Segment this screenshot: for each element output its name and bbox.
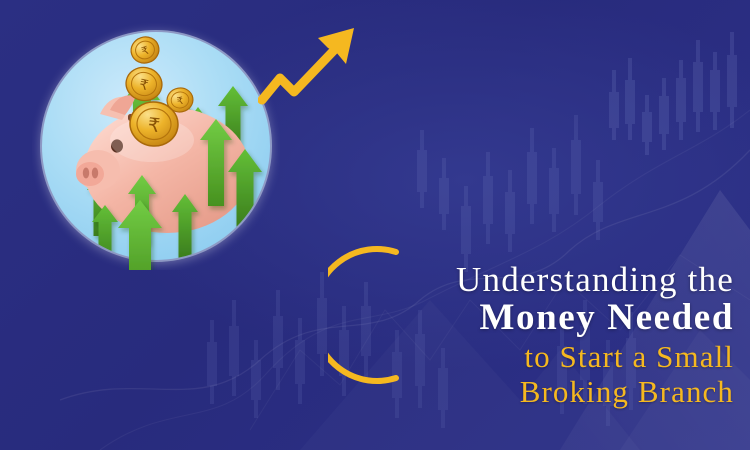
headline-line-4: Broking Branch [0,376,734,408]
headline-line-2: Money Needed [0,299,734,337]
headline-block: Understanding the Money Needed to Start … [0,262,742,408]
headline-line-1: Understanding the [0,262,734,298]
banner-root: ₹ ₹ ₹ ₹ [0,0,750,450]
upward-trend-arrow-icon [258,22,370,108]
piggy-bank-illustration: ₹ ₹ ₹ ₹ [32,22,280,270]
svg-text:₹: ₹ [147,114,161,137]
headline-line-3: to Start a Small [0,341,734,373]
